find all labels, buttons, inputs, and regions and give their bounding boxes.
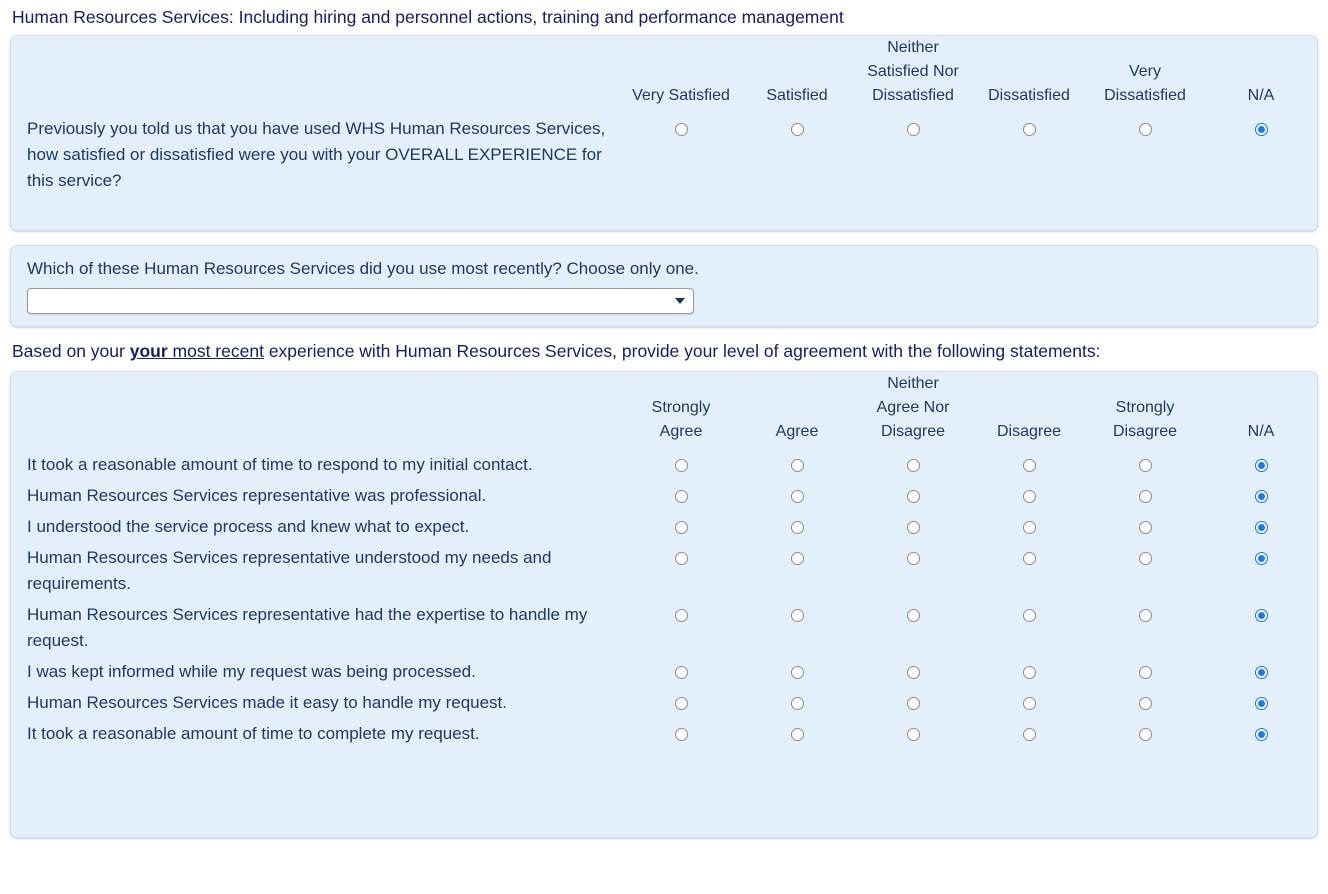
radio-checked-icon[interactable] xyxy=(1255,609,1268,622)
radio-unchecked-icon[interactable] xyxy=(1023,666,1036,679)
radio-unchecked-icon[interactable] xyxy=(675,728,688,741)
radio-checked-icon[interactable] xyxy=(1255,459,1268,472)
radio-unchecked-icon[interactable] xyxy=(1139,490,1152,503)
page-title: Human Resources Services: Including hiri… xyxy=(0,0,1328,27)
agreement-panel: StronglyAgreeAgreeNeitherAgree NorDisagr… xyxy=(10,371,1318,838)
radio-unchecked-icon[interactable] xyxy=(791,521,804,534)
agreement-option-cell[interactable] xyxy=(1203,688,1319,719)
agreement-option-cell[interactable] xyxy=(855,543,971,600)
agreement-option-cell[interactable] xyxy=(855,450,971,481)
agreement-option-cell[interactable] xyxy=(1203,600,1319,657)
agreement-row-label: Human Resources Services made it easy to… xyxy=(11,688,623,719)
radio-unchecked-icon[interactable] xyxy=(791,697,804,710)
radio-unchecked-icon[interactable] xyxy=(1023,609,1036,622)
agreement-option-cell[interactable] xyxy=(623,543,739,600)
agreement-option-cell[interactable] xyxy=(971,657,1087,688)
radio-unchecked-icon[interactable] xyxy=(1023,459,1036,472)
agreement-option-cell[interactable] xyxy=(739,512,855,543)
agreement-option-cell[interactable] xyxy=(623,600,739,657)
service-dropdown-wrapper xyxy=(11,280,1317,314)
agreement-row-label: I was kept informed while my request was… xyxy=(11,657,623,688)
radio-checked-icon[interactable] xyxy=(1255,666,1268,679)
agreement-option-cell[interactable] xyxy=(855,481,971,512)
agreement-column-header: Agree xyxy=(739,372,855,450)
radio-unchecked-icon[interactable] xyxy=(1139,666,1152,679)
chevron-down-icon xyxy=(675,298,685,304)
agreement-option-cell[interactable] xyxy=(623,481,739,512)
overall-option-cell[interactable] xyxy=(739,114,855,197)
overall-column-header-line: Dissatisfied xyxy=(872,87,954,104)
overall-column-header-line: Satisfied xyxy=(766,87,827,104)
agreement-column-header: StronglyAgree xyxy=(623,372,739,450)
radio-unchecked-icon[interactable] xyxy=(1023,521,1036,534)
radio-unchecked-icon[interactable] xyxy=(1023,552,1036,565)
radio-unchecked-icon[interactable] xyxy=(675,123,688,136)
agreement-option-cell[interactable] xyxy=(1087,719,1203,750)
agreement-column-header-line: Agree Nor xyxy=(877,399,950,416)
overall-column-header-line: Satisfied Nor xyxy=(867,63,959,80)
overall-experience-matrix: Very SatisfiedSatisfiedNeitherSatisfied … xyxy=(11,36,1319,197)
radio-unchecked-icon[interactable] xyxy=(675,666,688,679)
agreement-option-cell[interactable] xyxy=(623,688,739,719)
radio-unchecked-icon[interactable] xyxy=(675,552,688,565)
matrix-row: It took a reasonable amount of time to r… xyxy=(11,450,1319,481)
agreement-option-cell[interactable] xyxy=(1087,450,1203,481)
agreement-column-header-line: Agree xyxy=(660,423,703,440)
overall-column-header-line: Dissatisfied xyxy=(988,87,1070,104)
lead-suffix: experience with Human Resources Services… xyxy=(264,341,1101,361)
agreement-column-header-line: Disagree xyxy=(997,423,1061,440)
agreement-column-header: NeitherAgree NorDisagree xyxy=(855,372,971,450)
matrix-row: Previously you told us that you have use… xyxy=(11,114,1319,197)
radio-unchecked-icon[interactable] xyxy=(1139,552,1152,565)
overall-column-header: VeryDissatisfied xyxy=(1087,36,1203,114)
matrix-row: Human Resources Services representative … xyxy=(11,481,1319,512)
overall-column-header: Satisfied xyxy=(739,36,855,114)
agreement-row-label: Human Resources Services representative … xyxy=(11,481,623,512)
overall-row-label: Previously you told us that you have use… xyxy=(11,114,623,197)
agreement-matrix: StronglyAgreeAgreeNeitherAgree NorDisagr… xyxy=(11,372,1319,750)
radio-unchecked-icon[interactable] xyxy=(907,666,920,679)
agreement-option-cell[interactable] xyxy=(855,657,971,688)
agreement-column-header-line: Agree xyxy=(776,423,819,440)
agreement-option-cell[interactable] xyxy=(623,657,739,688)
service-dropdown-label: Which of these Human Resources Services … xyxy=(11,246,1317,280)
overall-column-header-line: Dissatisfied xyxy=(1104,87,1186,104)
agreement-option-cell[interactable] xyxy=(1087,481,1203,512)
agreement-row-label: Human Resources Services representative … xyxy=(11,543,623,600)
radio-unchecked-icon[interactable] xyxy=(1023,123,1036,136)
agreement-option-cell[interactable] xyxy=(739,543,855,600)
overall-column-header-line: N/A xyxy=(1248,87,1275,104)
radio-unchecked-icon[interactable] xyxy=(1139,609,1152,622)
agreement-option-cell[interactable] xyxy=(739,657,855,688)
overall-column-header: Dissatisfied xyxy=(971,36,1087,114)
radio-unchecked-icon[interactable] xyxy=(1139,697,1152,710)
radio-unchecked-icon[interactable] xyxy=(907,521,920,534)
radio-checked-icon[interactable] xyxy=(1255,728,1268,741)
agreement-option-cell[interactable] xyxy=(1203,481,1319,512)
radio-unchecked-icon[interactable] xyxy=(1023,728,1036,741)
radio-unchecked-icon[interactable] xyxy=(791,123,804,136)
service-selection-panel: Which of these Human Resources Services … xyxy=(10,245,1318,327)
service-dropdown-value xyxy=(28,289,693,311)
agreement-option-cell[interactable] xyxy=(855,688,971,719)
agreement-option-cell[interactable] xyxy=(855,719,971,750)
radio-unchecked-icon[interactable] xyxy=(1023,490,1036,503)
radio-unchecked-icon[interactable] xyxy=(791,459,804,472)
agreement-option-cell[interactable] xyxy=(1203,543,1319,600)
radio-checked-icon[interactable] xyxy=(1255,123,1268,136)
radio-checked-icon[interactable] xyxy=(1255,490,1268,503)
overall-option-cell[interactable] xyxy=(1203,114,1319,197)
overall-option-cell[interactable] xyxy=(855,114,971,197)
agreement-row-label: It took a reasonable amount of time to c… xyxy=(11,719,623,750)
radio-unchecked-icon[interactable] xyxy=(675,609,688,622)
radio-unchecked-icon[interactable] xyxy=(791,609,804,622)
service-dropdown[interactable] xyxy=(27,288,694,314)
overall-column-header: NeitherSatisfied NorDissatisfied xyxy=(855,36,971,114)
agreement-column-header-line: Disagree xyxy=(881,423,945,440)
radio-unchecked-icon[interactable] xyxy=(907,697,920,710)
agreement-row-label: It took a reasonable amount of time to r… xyxy=(11,450,623,481)
agreement-option-cell[interactable] xyxy=(971,719,1087,750)
matrix-header: StronglyAgreeAgreeNeitherAgree NorDisagr… xyxy=(11,372,1319,450)
radio-unchecked-icon[interactable] xyxy=(791,728,804,741)
matrix-row: Human Resources Services representative … xyxy=(11,543,1319,600)
agreement-option-cell[interactable] xyxy=(623,512,739,543)
agreement-column-header: N/A xyxy=(1203,372,1319,450)
agreement-option-cell[interactable] xyxy=(1203,512,1319,543)
agreement-option-cell[interactable] xyxy=(1203,657,1319,688)
agreement-option-cell[interactable] xyxy=(1087,600,1203,657)
overall-column-header-line: Neither xyxy=(887,39,939,56)
radio-unchecked-icon[interactable] xyxy=(1139,521,1152,534)
radio-unchecked-icon[interactable] xyxy=(675,697,688,710)
radio-unchecked-icon[interactable] xyxy=(791,552,804,565)
agreement-option-cell[interactable] xyxy=(971,450,1087,481)
lead-prefix: Based on your xyxy=(12,341,130,361)
radio-unchecked-icon[interactable] xyxy=(907,609,920,622)
radio-checked-icon[interactable] xyxy=(1255,521,1268,534)
overall-column-header: Very Satisfied xyxy=(623,36,739,114)
overall-option-cell[interactable] xyxy=(971,114,1087,197)
agreement-column-header-line: Strongly xyxy=(1116,399,1175,416)
radio-unchecked-icon[interactable] xyxy=(1139,459,1152,472)
overall-column-header: N/A xyxy=(1203,36,1319,114)
agreement-row-label: I understood the service process and kne… xyxy=(11,512,623,543)
agreement-option-cell[interactable] xyxy=(1203,719,1319,750)
matrix-corner-spacer xyxy=(11,372,623,450)
radio-unchecked-icon[interactable] xyxy=(907,459,920,472)
radio-checked-icon[interactable] xyxy=(1255,552,1268,565)
overall-column-header-line: Very xyxy=(1129,63,1161,80)
agreement-option-cell[interactable] xyxy=(971,512,1087,543)
agreement-column-header-line: Strongly xyxy=(652,399,711,416)
matrix-header: Very SatisfiedSatisfiedNeitherSatisfied … xyxy=(11,36,1319,114)
agreement-option-cell[interactable] xyxy=(1087,543,1203,600)
overall-experience-panel: Very SatisfiedSatisfiedNeitherSatisfied … xyxy=(10,35,1318,231)
lead-bold-underline: your xyxy=(130,341,168,361)
radio-unchecked-icon[interactable] xyxy=(675,459,688,472)
agreement-row-label: Human Resources Services representative … xyxy=(11,600,623,657)
agreement-option-cell[interactable] xyxy=(739,600,855,657)
radio-unchecked-icon[interactable] xyxy=(1139,728,1152,741)
radio-unchecked-icon[interactable] xyxy=(907,552,920,565)
overall-option-cell[interactable] xyxy=(1087,114,1203,197)
radio-checked-icon[interactable] xyxy=(1255,697,1268,710)
agreement-option-cell[interactable] xyxy=(623,719,739,750)
agreement-option-cell[interactable] xyxy=(971,543,1087,600)
agreement-option-cell[interactable] xyxy=(1087,688,1203,719)
radio-unchecked-icon[interactable] xyxy=(791,490,804,503)
agreement-option-cell[interactable] xyxy=(739,719,855,750)
agreement-option-cell[interactable] xyxy=(739,450,855,481)
agreement-option-cell[interactable] xyxy=(1087,512,1203,543)
agreement-option-cell[interactable] xyxy=(623,450,739,481)
agreement-column-header-line: Disagree xyxy=(1113,423,1177,440)
radio-unchecked-icon[interactable] xyxy=(907,728,920,741)
radio-unchecked-icon[interactable] xyxy=(791,666,804,679)
agreement-option-cell[interactable] xyxy=(971,600,1087,657)
overall-column-header-line: Very Satisfied xyxy=(632,87,730,104)
agreement-option-cell[interactable] xyxy=(1203,450,1319,481)
matrix-corner-spacer xyxy=(11,36,623,114)
matrix-body: It took a reasonable amount of time to r… xyxy=(11,450,1319,750)
agreement-option-cell[interactable] xyxy=(1087,657,1203,688)
radio-unchecked-icon[interactable] xyxy=(1139,123,1152,136)
matrix-row: I understood the service process and kne… xyxy=(11,512,1319,543)
radio-unchecked-icon[interactable] xyxy=(907,490,920,503)
radio-unchecked-icon[interactable] xyxy=(675,490,688,503)
matrix-body: Previously you told us that you have use… xyxy=(11,114,1319,197)
agreement-column-header-line: N/A xyxy=(1248,423,1275,440)
matrix-row: Human Resources Services representative … xyxy=(11,600,1319,657)
lead-underline: most recent xyxy=(168,341,264,361)
radio-unchecked-icon[interactable] xyxy=(675,521,688,534)
matrix-row: I was kept informed while my request was… xyxy=(11,657,1319,688)
agreement-option-cell[interactable] xyxy=(971,481,1087,512)
agreement-lead-statement: Based on your your most recent experienc… xyxy=(0,341,1328,361)
radio-unchecked-icon[interactable] xyxy=(907,123,920,136)
survey-page: Human Resources Services: Including hiri… xyxy=(0,0,1328,894)
agreement-option-cell[interactable] xyxy=(739,688,855,719)
matrix-row: It took a reasonable amount of time to c… xyxy=(11,719,1319,750)
overall-option-cell[interactable] xyxy=(623,114,739,197)
agreement-column-header: Disagree xyxy=(971,372,1087,450)
agreement-column-header-line: Neither xyxy=(887,375,939,392)
matrix-row: Human Resources Services made it easy to… xyxy=(11,688,1319,719)
agreement-option-cell[interactable] xyxy=(971,688,1087,719)
agreement-column-header: StronglyDisagree xyxy=(1087,372,1203,450)
agreement-option-cell[interactable] xyxy=(855,512,971,543)
agreement-option-cell[interactable] xyxy=(855,600,971,657)
agreement-option-cell[interactable] xyxy=(739,481,855,512)
radio-unchecked-icon[interactable] xyxy=(1023,697,1036,710)
